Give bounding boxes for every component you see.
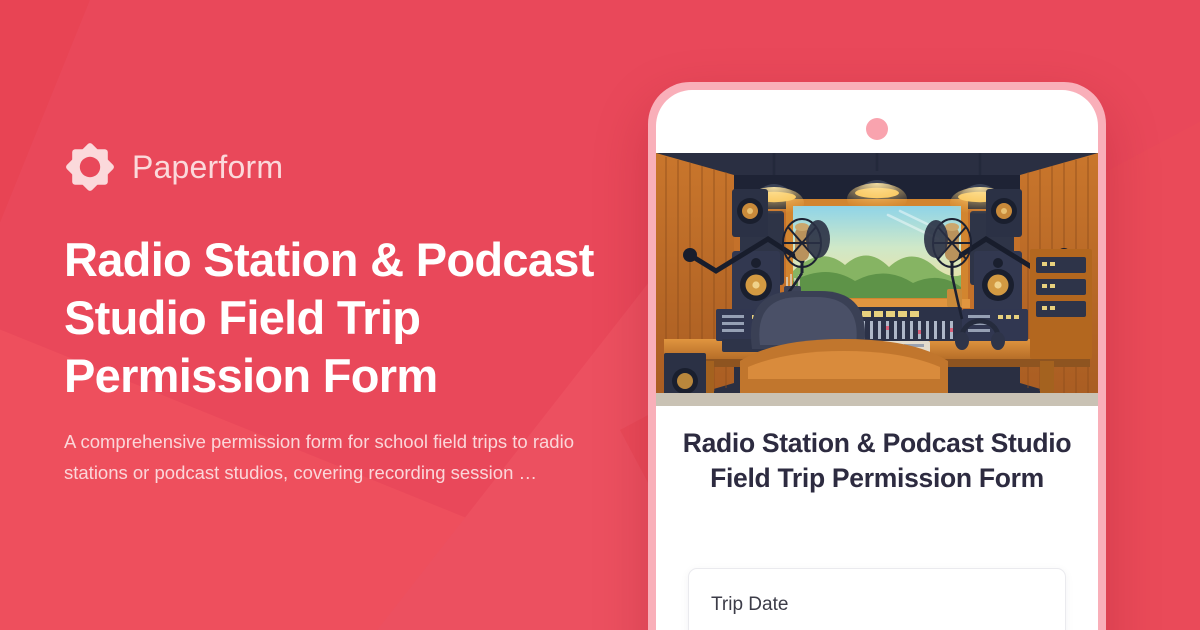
brand-wordmark: Paperform (132, 151, 283, 183)
page-title: Radio Station & Podcast Studio Field Tri… (64, 231, 594, 405)
paperform-star-logo-icon (64, 141, 116, 193)
hero-text-column: Paperform Radio Station & Podcast Studio… (64, 0, 624, 630)
front-camera-dot-icon (866, 118, 888, 140)
phone-mockup-frame: Radio Station & Podcast Studio Field Tri… (648, 82, 1106, 630)
form-title: Radio Station & Podcast Studio Field Tri… (678, 426, 1076, 496)
brand-lockup: Paperform (64, 141, 624, 193)
question-label: Trip Date (711, 593, 1043, 618)
question-card[interactable]: Trip Date Friday, March 15, 2024 (688, 568, 1066, 630)
radio-podcast-studio-illustration (656, 153, 1098, 406)
phone-screen: Radio Station & Podcast Studio Field Tri… (656, 90, 1098, 630)
page-description: A comprehensive permission form for scho… (64, 427, 579, 488)
